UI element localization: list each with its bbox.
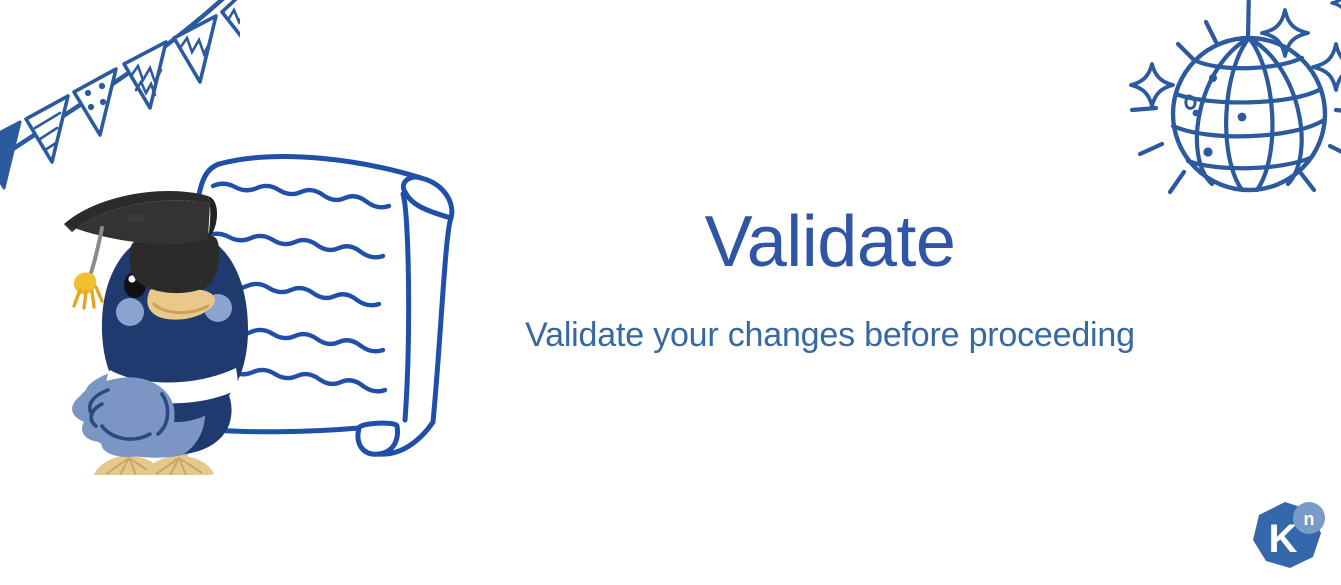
scroll-document-icon xyxy=(183,138,463,463)
hero-text-block: Validate Validate your changes before pr… xyxy=(470,205,1190,355)
page-title: Validate xyxy=(470,205,1190,281)
graduate-bird-mascot-icon xyxy=(58,190,293,475)
slide-canvas: Validate Validate your changes before pr… xyxy=(0,0,1341,585)
party-bunting-icon xyxy=(0,0,240,192)
disco-ball-icon xyxy=(1118,0,1341,236)
page-subtitle: Validate your changes before proceeding xyxy=(470,315,1190,356)
knime-logo: K n xyxy=(1247,500,1329,574)
graduation-cap xyxy=(64,191,219,308)
logo-primary-mark: K xyxy=(1269,517,1298,561)
logo-secondary-mark: n xyxy=(1304,509,1315,529)
bird-feet xyxy=(94,438,214,475)
